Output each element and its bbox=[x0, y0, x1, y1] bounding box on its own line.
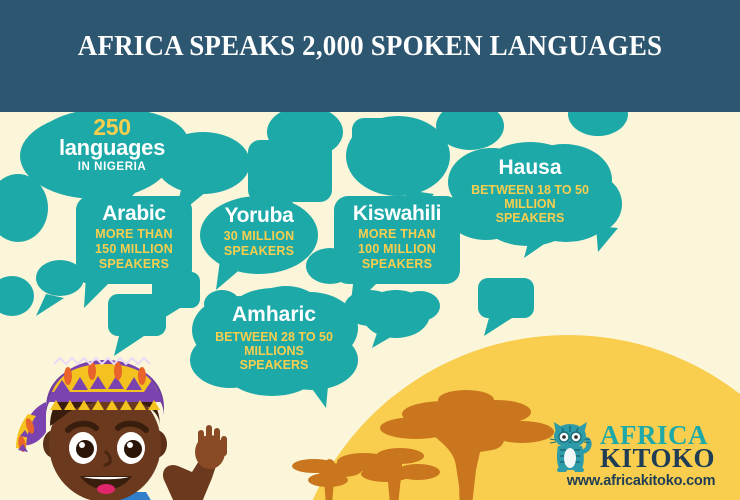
bubble-yoruba-line1: 30 MILLION bbox=[200, 229, 318, 244]
bubble-kiswahili-name: Kiswahili bbox=[334, 203, 460, 224]
page-title: AFRICA SPEAKS 2,000 SPOKEN LANGUAGES bbox=[26, 30, 714, 63]
bubble-nigeria-name: languages bbox=[36, 137, 188, 159]
logo-brand-kitoko: KITOKO bbox=[600, 443, 715, 474]
bubble-amharic-line1: BETWEEN 28 TO 50 bbox=[190, 330, 358, 344]
bubble-kiswahili-line2: 100 MILLION bbox=[334, 242, 460, 257]
header-banner: AFRICA SPEAKS 2,000 SPOKEN LANGUAGES bbox=[0, 0, 740, 112]
bubble-hausa-line2: MILLION bbox=[446, 197, 614, 211]
bubble-arabic-line3: SPEAKERS bbox=[76, 257, 192, 272]
bubble-arabic[interactable]: Arabic MORE THAN 150 MILLION SPEAKERS bbox=[76, 196, 192, 284]
bubble-nigeria[interactable]: 250 languages IN NIGERIA bbox=[36, 108, 188, 174]
boy-character-illustration bbox=[6, 352, 246, 500]
infographic-canvas: 250 languages IN NIGERIA Arabic MORE THA… bbox=[0, 0, 740, 500]
bubble-hausa[interactable]: Hausa BETWEEN 18 TO 50 MILLION SPEAKERS bbox=[446, 140, 614, 250]
bubble-arabic-line2: 150 MILLION bbox=[76, 242, 192, 257]
bubble-kiswahili-line1: MORE THAN bbox=[334, 227, 460, 242]
bubble-yoruba-line2: SPEAKERS bbox=[200, 244, 318, 259]
bubble-kiswahili-line3: SPEAKERS bbox=[334, 257, 460, 272]
bubble-arabic-name: Arabic bbox=[76, 203, 192, 224]
bubble-hausa-line3: SPEAKERS bbox=[446, 211, 614, 225]
bubble-nigeria-sub: IN NIGERIA bbox=[36, 161, 188, 175]
bubble-kiswahili[interactable]: Kiswahili MORE THAN 100 MILLION SPEAKERS bbox=[334, 196, 460, 284]
bubble-hausa-line1: BETWEEN 18 TO 50 bbox=[446, 183, 614, 197]
cat-mascot-icon bbox=[548, 420, 596, 472]
bubble-arabic-line1: MORE THAN bbox=[76, 227, 192, 242]
bubble-hausa-name: Hausa bbox=[446, 156, 614, 180]
bubble-amharic-name: Amharic bbox=[190, 303, 358, 327]
africa-kitoko-logo[interactable]: AFRICA KITOKO www.africakitoko.com bbox=[548, 418, 734, 498]
bubble-yoruba-name: Yoruba bbox=[200, 205, 318, 226]
logo-website-url[interactable]: www.africakitoko.com bbox=[548, 473, 734, 489]
bubble-yoruba[interactable]: Yoruba 30 MILLION SPEAKERS bbox=[200, 196, 318, 274]
